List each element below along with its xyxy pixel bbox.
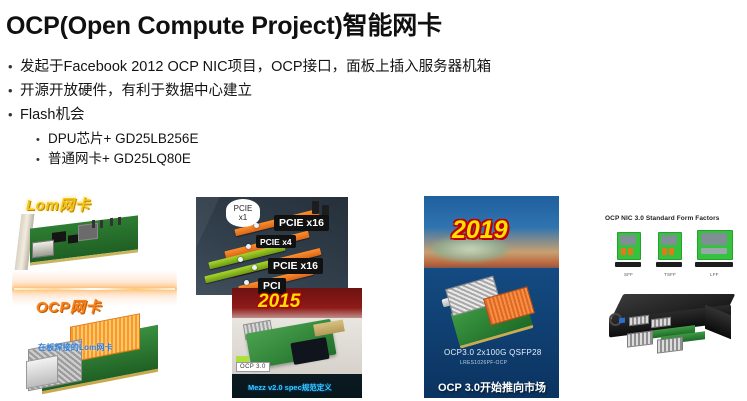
bullet-marker: • xyxy=(8,108,20,121)
slide-root: OCP(Open Compute Project)智能网卡 • 发起于Faceb… xyxy=(0,0,747,401)
bullet-item: • 开源开放硬件，有利于数据中心建立 xyxy=(8,82,628,101)
ocp30-market-caption: OCP 3.0开始推向市场 xyxy=(438,379,546,395)
bullet-marker: • xyxy=(36,155,48,166)
bullet-marker: • xyxy=(8,84,20,97)
bullet-marker: • xyxy=(36,135,48,146)
card-connector xyxy=(701,248,727,254)
card-capacitor xyxy=(100,220,103,228)
card-chip-small xyxy=(68,234,78,243)
card-chip xyxy=(701,233,727,245)
figure-form-factors: OCP NIC 3.0 Standard Form Factors SFF TS… xyxy=(597,196,745,376)
lom-card-label: Lom网卡 xyxy=(26,194,90,215)
sub-bullet-item: • 普通网卡+ GD25LQ80E xyxy=(8,150,628,168)
ocp-card-label: OCP网卡 xyxy=(36,296,101,317)
bullet-text: 普通网卡+ GD25LQ80E xyxy=(48,150,191,168)
pcie-x16-tag: PCIE x16 xyxy=(274,215,329,231)
card-capacitor xyxy=(118,217,121,225)
sub-bullet-item: • DPU芯片+ GD25LB256E xyxy=(8,130,628,148)
ocp30-model-text: LRES1026PF-OCP xyxy=(460,360,507,366)
card-chip-small xyxy=(52,231,66,243)
form-factors-title: OCP NIC 3.0 Standard Form Factors xyxy=(605,215,719,222)
card-connector xyxy=(669,248,674,255)
rj45-port xyxy=(32,240,54,259)
form-factor-label-tsff: TSFF xyxy=(664,272,676,277)
bullet-text: Flash机会 xyxy=(20,106,84,125)
figure-lom-vs-ocp: Lom网卡 OCP网卡 在板焊接的Lom网卡 xyxy=(12,192,177,397)
card-chip xyxy=(661,235,677,245)
glow-line-decor xyxy=(14,288,175,290)
slot-marker-dot xyxy=(238,257,243,262)
pcie-x4-tag: PCIE x4 xyxy=(256,235,296,248)
page-title: OCP(Open Compute Project)智能网卡 xyxy=(6,6,442,42)
card-capacitor xyxy=(92,220,95,228)
bullet-item: • 发起于Facebook 2012 OCP NIC项目，OCP接口，面板上插入… xyxy=(8,58,628,77)
nic-port-cage xyxy=(657,336,683,353)
pci-network-card-illustration xyxy=(18,214,140,272)
bullet-text: 发起于Facebook 2012 OCP NIC项目，OCP接口，面板上插入服务… xyxy=(20,58,491,77)
nic-port-cage xyxy=(627,330,653,347)
bullet-marker: • xyxy=(8,60,20,73)
mezz-spec-caption: Mezz v2.0 spec规范定义 xyxy=(248,382,332,393)
slot-marker-dot xyxy=(252,265,257,270)
pcie-x16-tag: PCIE x16 xyxy=(268,258,323,274)
card-bar xyxy=(656,262,682,267)
slot-marker-dot xyxy=(246,244,251,249)
pcie-x1-callout: PCIE x1 xyxy=(226,199,260,227)
bullet-text: DPU芯片+ GD25LB256E xyxy=(48,130,198,148)
bullet-text: 开源开放硬件，有利于数据中心建立 xyxy=(20,82,252,101)
card-connector xyxy=(621,248,626,255)
card-chip xyxy=(620,235,636,245)
year-label-2019: 2019 xyxy=(452,216,508,245)
figure-ocp30-2019: 2019 OCP3.0 2x100G QSFP28 LRES1026PF-OCP… xyxy=(424,196,559,398)
form-factor-label-lff: LFF xyxy=(710,272,719,277)
card-bar xyxy=(615,262,641,267)
ocp-network-card-illustration xyxy=(26,314,162,392)
ocp30-spec-text: OCP3.0 2x100G QSFP28 xyxy=(444,348,542,357)
bullet-list: • 发起于Facebook 2012 OCP NIC项目，OCP接口，面板上插入… xyxy=(8,58,628,170)
figure-pcie-slots: PCIE x1 PCIE x16 PCIE x4 PCIE x16 PCI xyxy=(196,197,348,295)
capacitor xyxy=(312,201,319,214)
figure-mezz-2015: OCP 3.0 2015 Mezz v2.0 spec规范定义 xyxy=(232,288,362,398)
status-led xyxy=(619,318,625,324)
form-factor-label-sff: SFF xyxy=(624,272,633,277)
card-connector xyxy=(662,248,667,255)
bullet-item: • Flash机会 xyxy=(8,106,628,125)
card-connector xyxy=(628,248,633,255)
card-bar xyxy=(695,262,733,267)
card-capacitor xyxy=(110,218,113,226)
lom-overlay-caption: 在板焊接的Lom网卡 xyxy=(38,342,113,353)
server-chassis-illustration xyxy=(605,288,737,360)
card-main-chip xyxy=(78,223,98,241)
ocp30-badge: OCP 3.0 xyxy=(236,362,270,372)
slot-marker-dot xyxy=(244,280,249,285)
year-label-2015: 2015 xyxy=(258,291,300,313)
